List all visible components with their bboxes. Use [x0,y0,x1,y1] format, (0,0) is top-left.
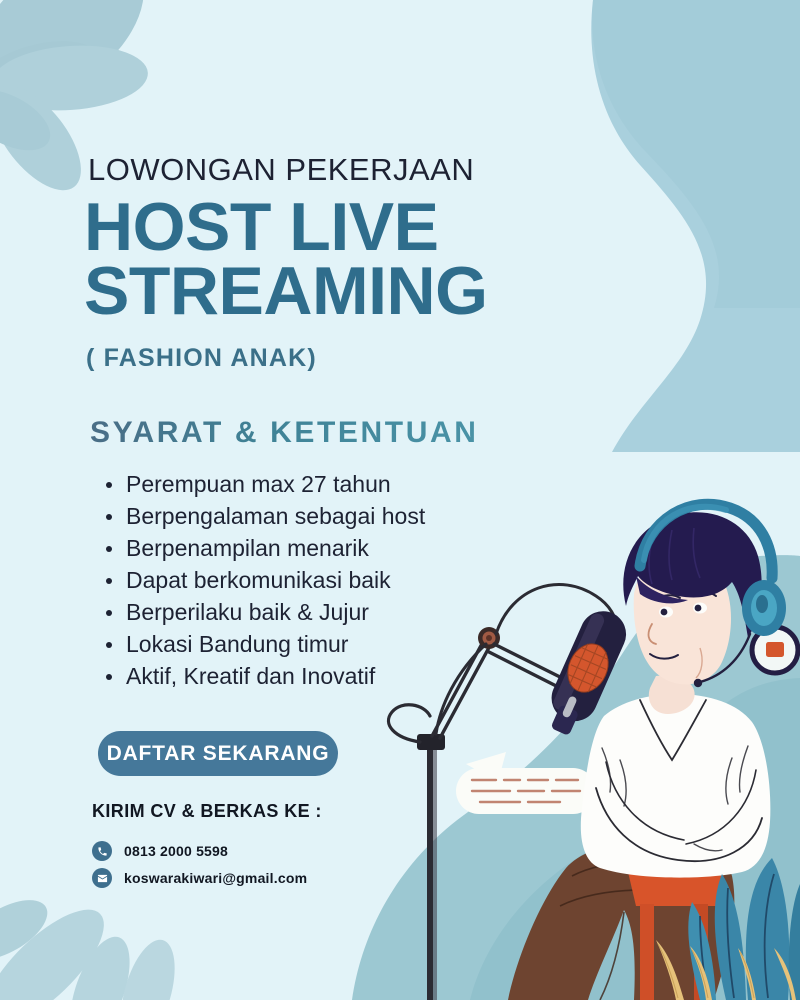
list-item: Aktif, Kreatif dan Inovatif [100,660,425,692]
phone-icon [92,841,112,861]
contact-phone-row[interactable]: 0813 2000 5598 [92,841,228,861]
list-item: Berperilaku baik & Jujur [100,596,425,628]
contact-email-row[interactable]: koswarakiwari@gmail.com [92,868,307,888]
job-vacancy-poster: LOWONGAN PEKERJAAN HOST LIVE STREAMING (… [0,0,800,1000]
phone-number: 0813 2000 5598 [124,843,228,859]
requirements-heading: SYARAT & KETENTUAN [90,416,479,450]
email-address: koswarakiwari@gmail.com [124,870,307,886]
requirements-list: Perempuan max 27 tahun Berpengalaman seb… [100,468,425,692]
list-item: Berpenampilan menarik [100,532,425,564]
list-item: Lokasi Bandung timur [100,628,425,660]
list-item: Dapat berkomunikasi baik [100,564,425,596]
envelope-icon [92,868,112,888]
eyebrow-label: LOWONGAN PEKERJAAN [88,152,474,188]
title-subtitle: ( FASHION ANAK) [86,344,317,373]
list-item: Berpengalaman sebagai host [100,500,425,532]
list-item: Perempuan max 27 tahun [100,468,425,500]
page-title: HOST LIVE STREAMING [84,196,644,324]
shirt [581,694,771,878]
title-line-2: STREAMING [84,260,644,324]
register-now-button[interactable]: DAFTAR SEKARANG [98,731,338,776]
send-documents-label: KIRIM CV & BERKAS KE : [92,801,322,822]
